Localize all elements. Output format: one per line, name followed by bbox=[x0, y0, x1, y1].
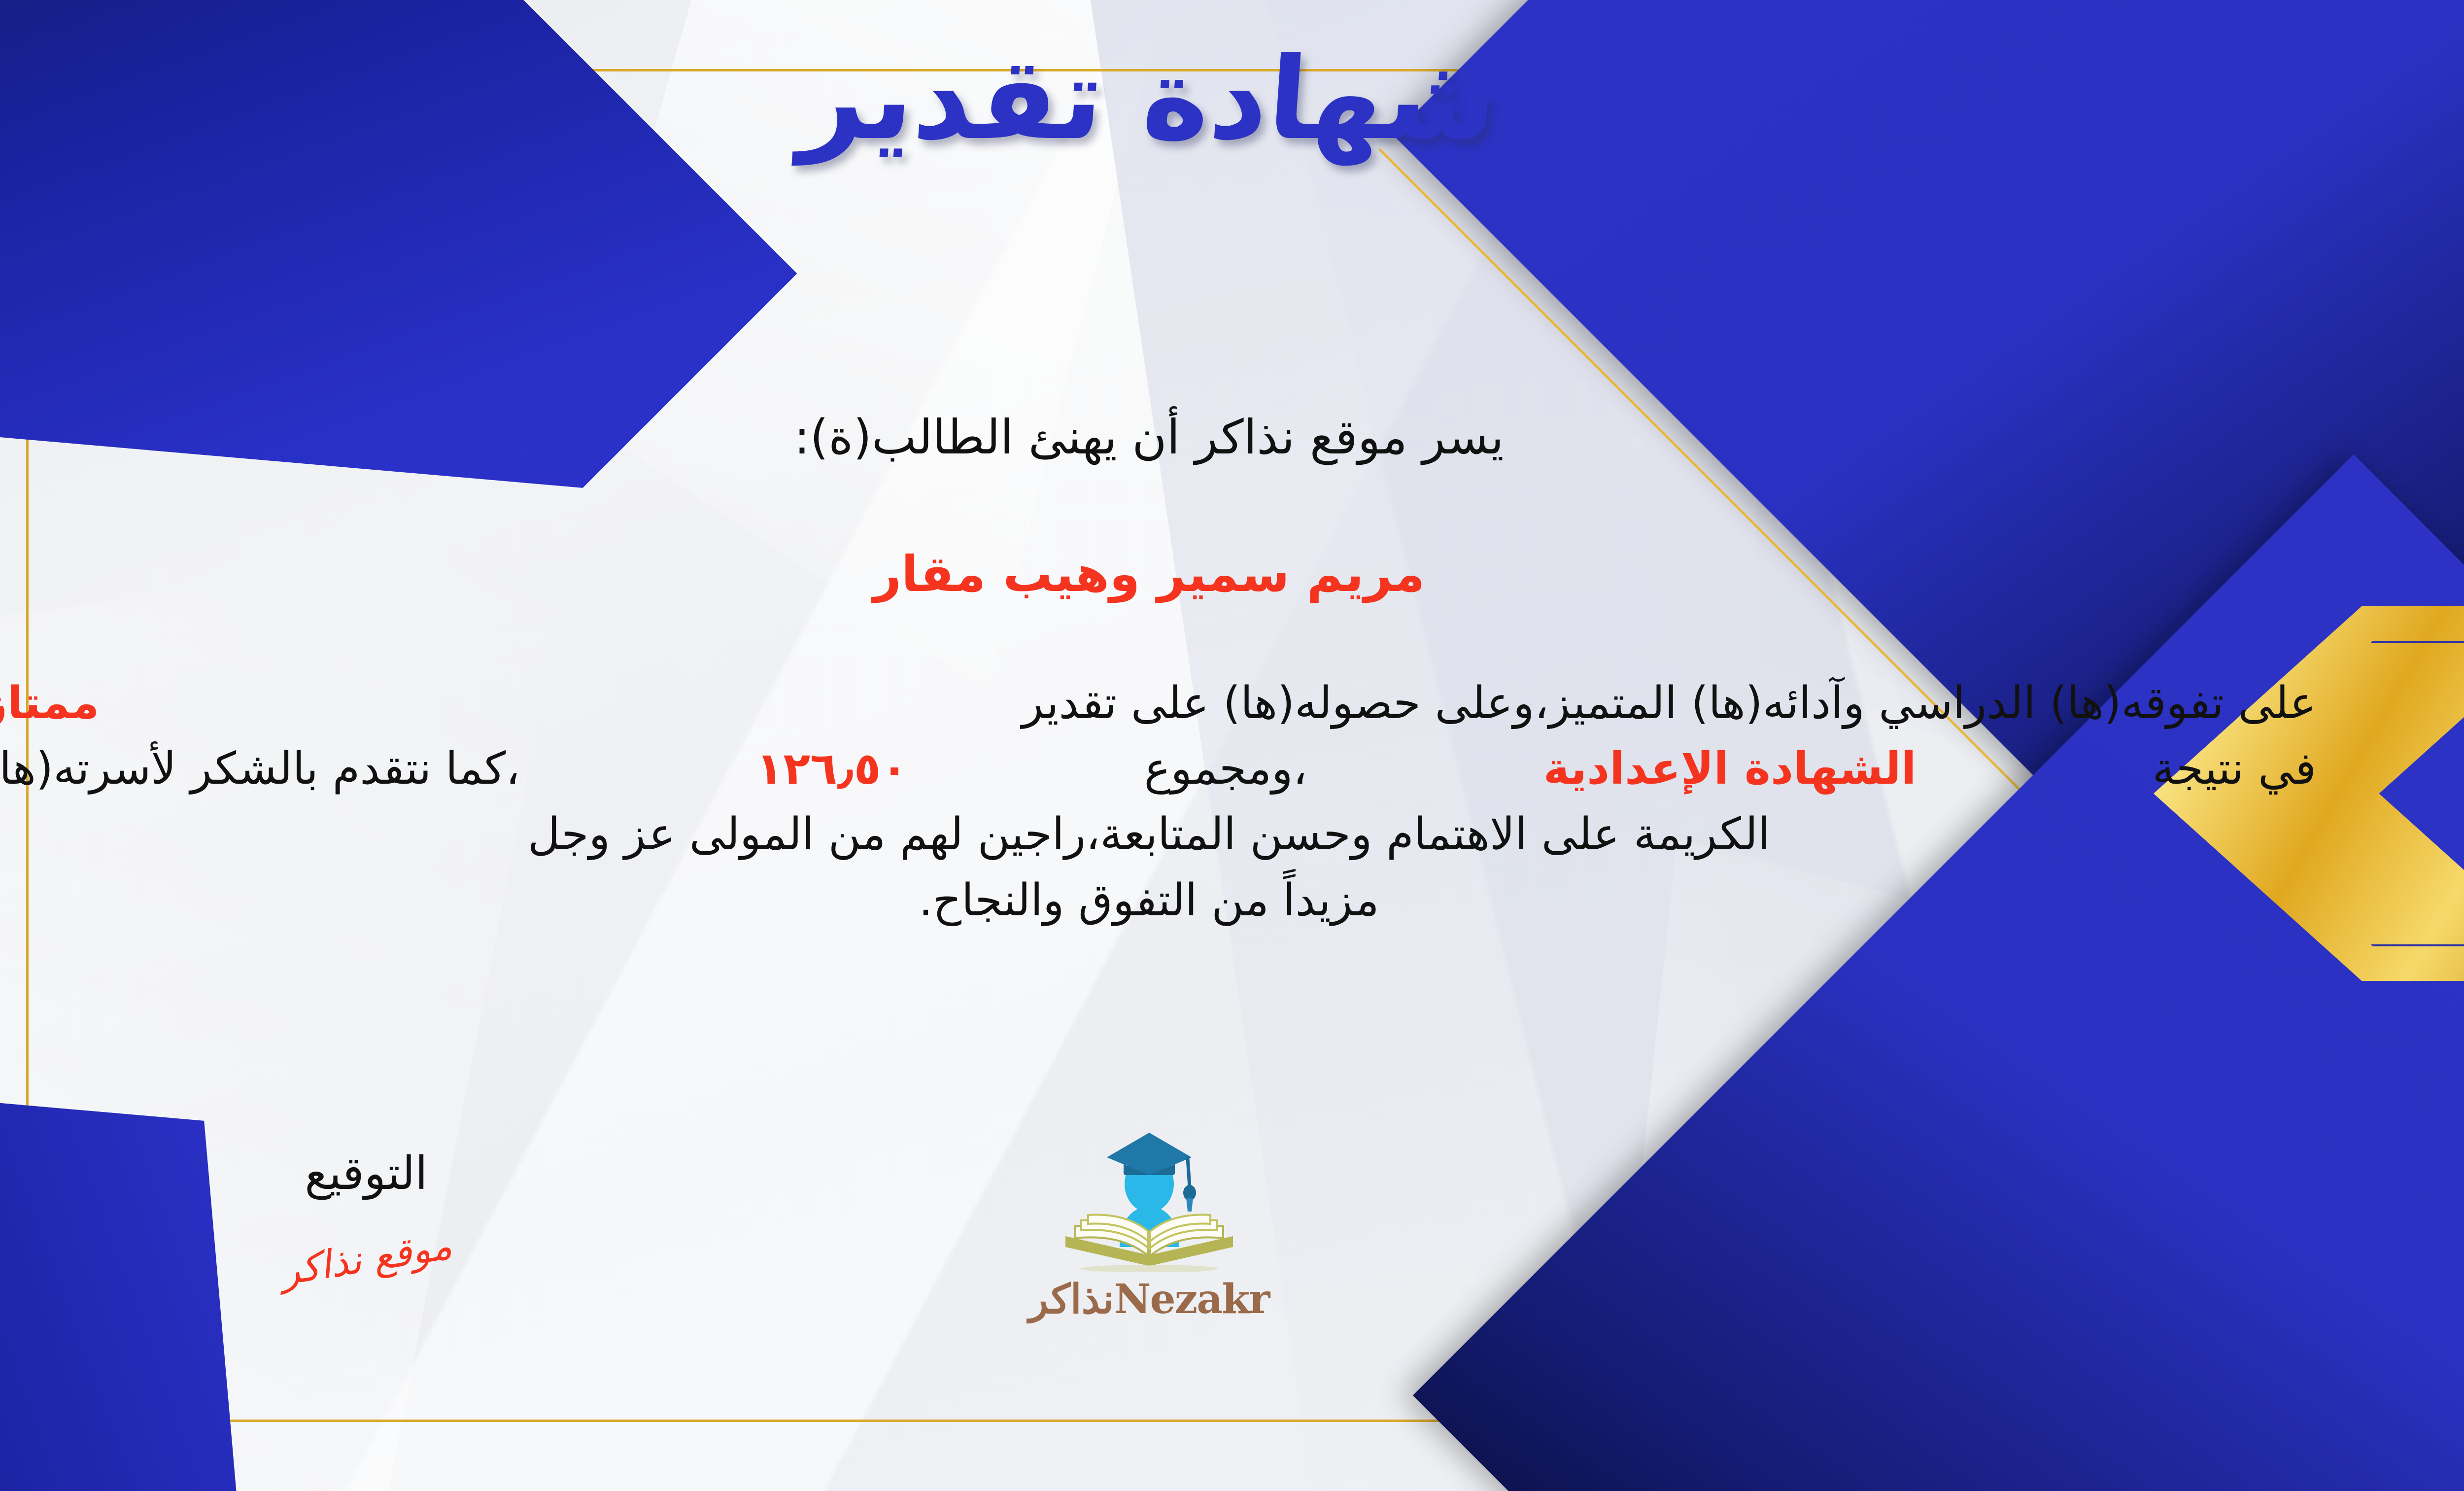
total-score: ١٢٦٫٥٠ bbox=[756, 736, 908, 801]
body-line-2-suffix: ،كما نتقدم بالشكر لأسرته(ها) bbox=[0, 736, 520, 801]
signature-mark: موقع نذاكر bbox=[277, 1223, 455, 1294]
student-name: مريم سمير وهيب مقار bbox=[0, 545, 2464, 604]
page-title: شهادة تقدير bbox=[0, 37, 2464, 162]
body-line-2-mid: ،ومجموع bbox=[1144, 736, 1307, 801]
body-paragraph: على تفوقه(ها) الدراسي وآدائه(ها) المتميز… bbox=[0, 670, 2316, 933]
body-line-2-prefix: في نتيجة bbox=[2153, 736, 2316, 801]
certificate-canvas: شهادة تقدير يسر موقع نذاكر أن يهنئ الطال… bbox=[0, 0, 2464, 1491]
intro-line: يسر موقع نذاكر أن يهنئ الطالب(ة): bbox=[0, 409, 2464, 466]
signature-label: التوقيع bbox=[208, 1148, 524, 1198]
body-line-3: الكريمة على الاهتمام وحسن المتابعة،راجين… bbox=[0, 801, 2316, 867]
body-line-4: مزيداً من التفوق والنجاح. bbox=[0, 867, 2316, 933]
body-line-1-text: على تفوقه(ها) الدراسي وآدائه(ها) المتميز… bbox=[1022, 670, 2316, 736]
body-line-2: في نتيجة الشهادة الإعدادية ،ومجموع ١٢٦٫٥… bbox=[0, 736, 2316, 801]
signature-block: التوقيع موقع نذاكر bbox=[208, 1148, 524, 1281]
logo-latin-text: Nezakr bbox=[1114, 1276, 1269, 1323]
logo-arabic-text: نذاكر bbox=[1029, 1276, 1114, 1323]
certificate-content: شهادة تقدير يسر موقع نذاكر أن يهنئ الطال… bbox=[0, 0, 2464, 1491]
graduation-book-icon bbox=[992, 1124, 1307, 1272]
body-line-1: على تفوقه(ها) الدراسي وآدائه(ها) المتميز… bbox=[0, 670, 2316, 736]
grade-value: ممتاز bbox=[0, 670, 99, 736]
exam-name: الشهادة الإعدادية bbox=[1543, 736, 1916, 801]
logo-wordmark: Nezakrنذاكر bbox=[992, 1276, 1307, 1323]
site-logo: Nezakrنذاكر bbox=[992, 1124, 1307, 1323]
